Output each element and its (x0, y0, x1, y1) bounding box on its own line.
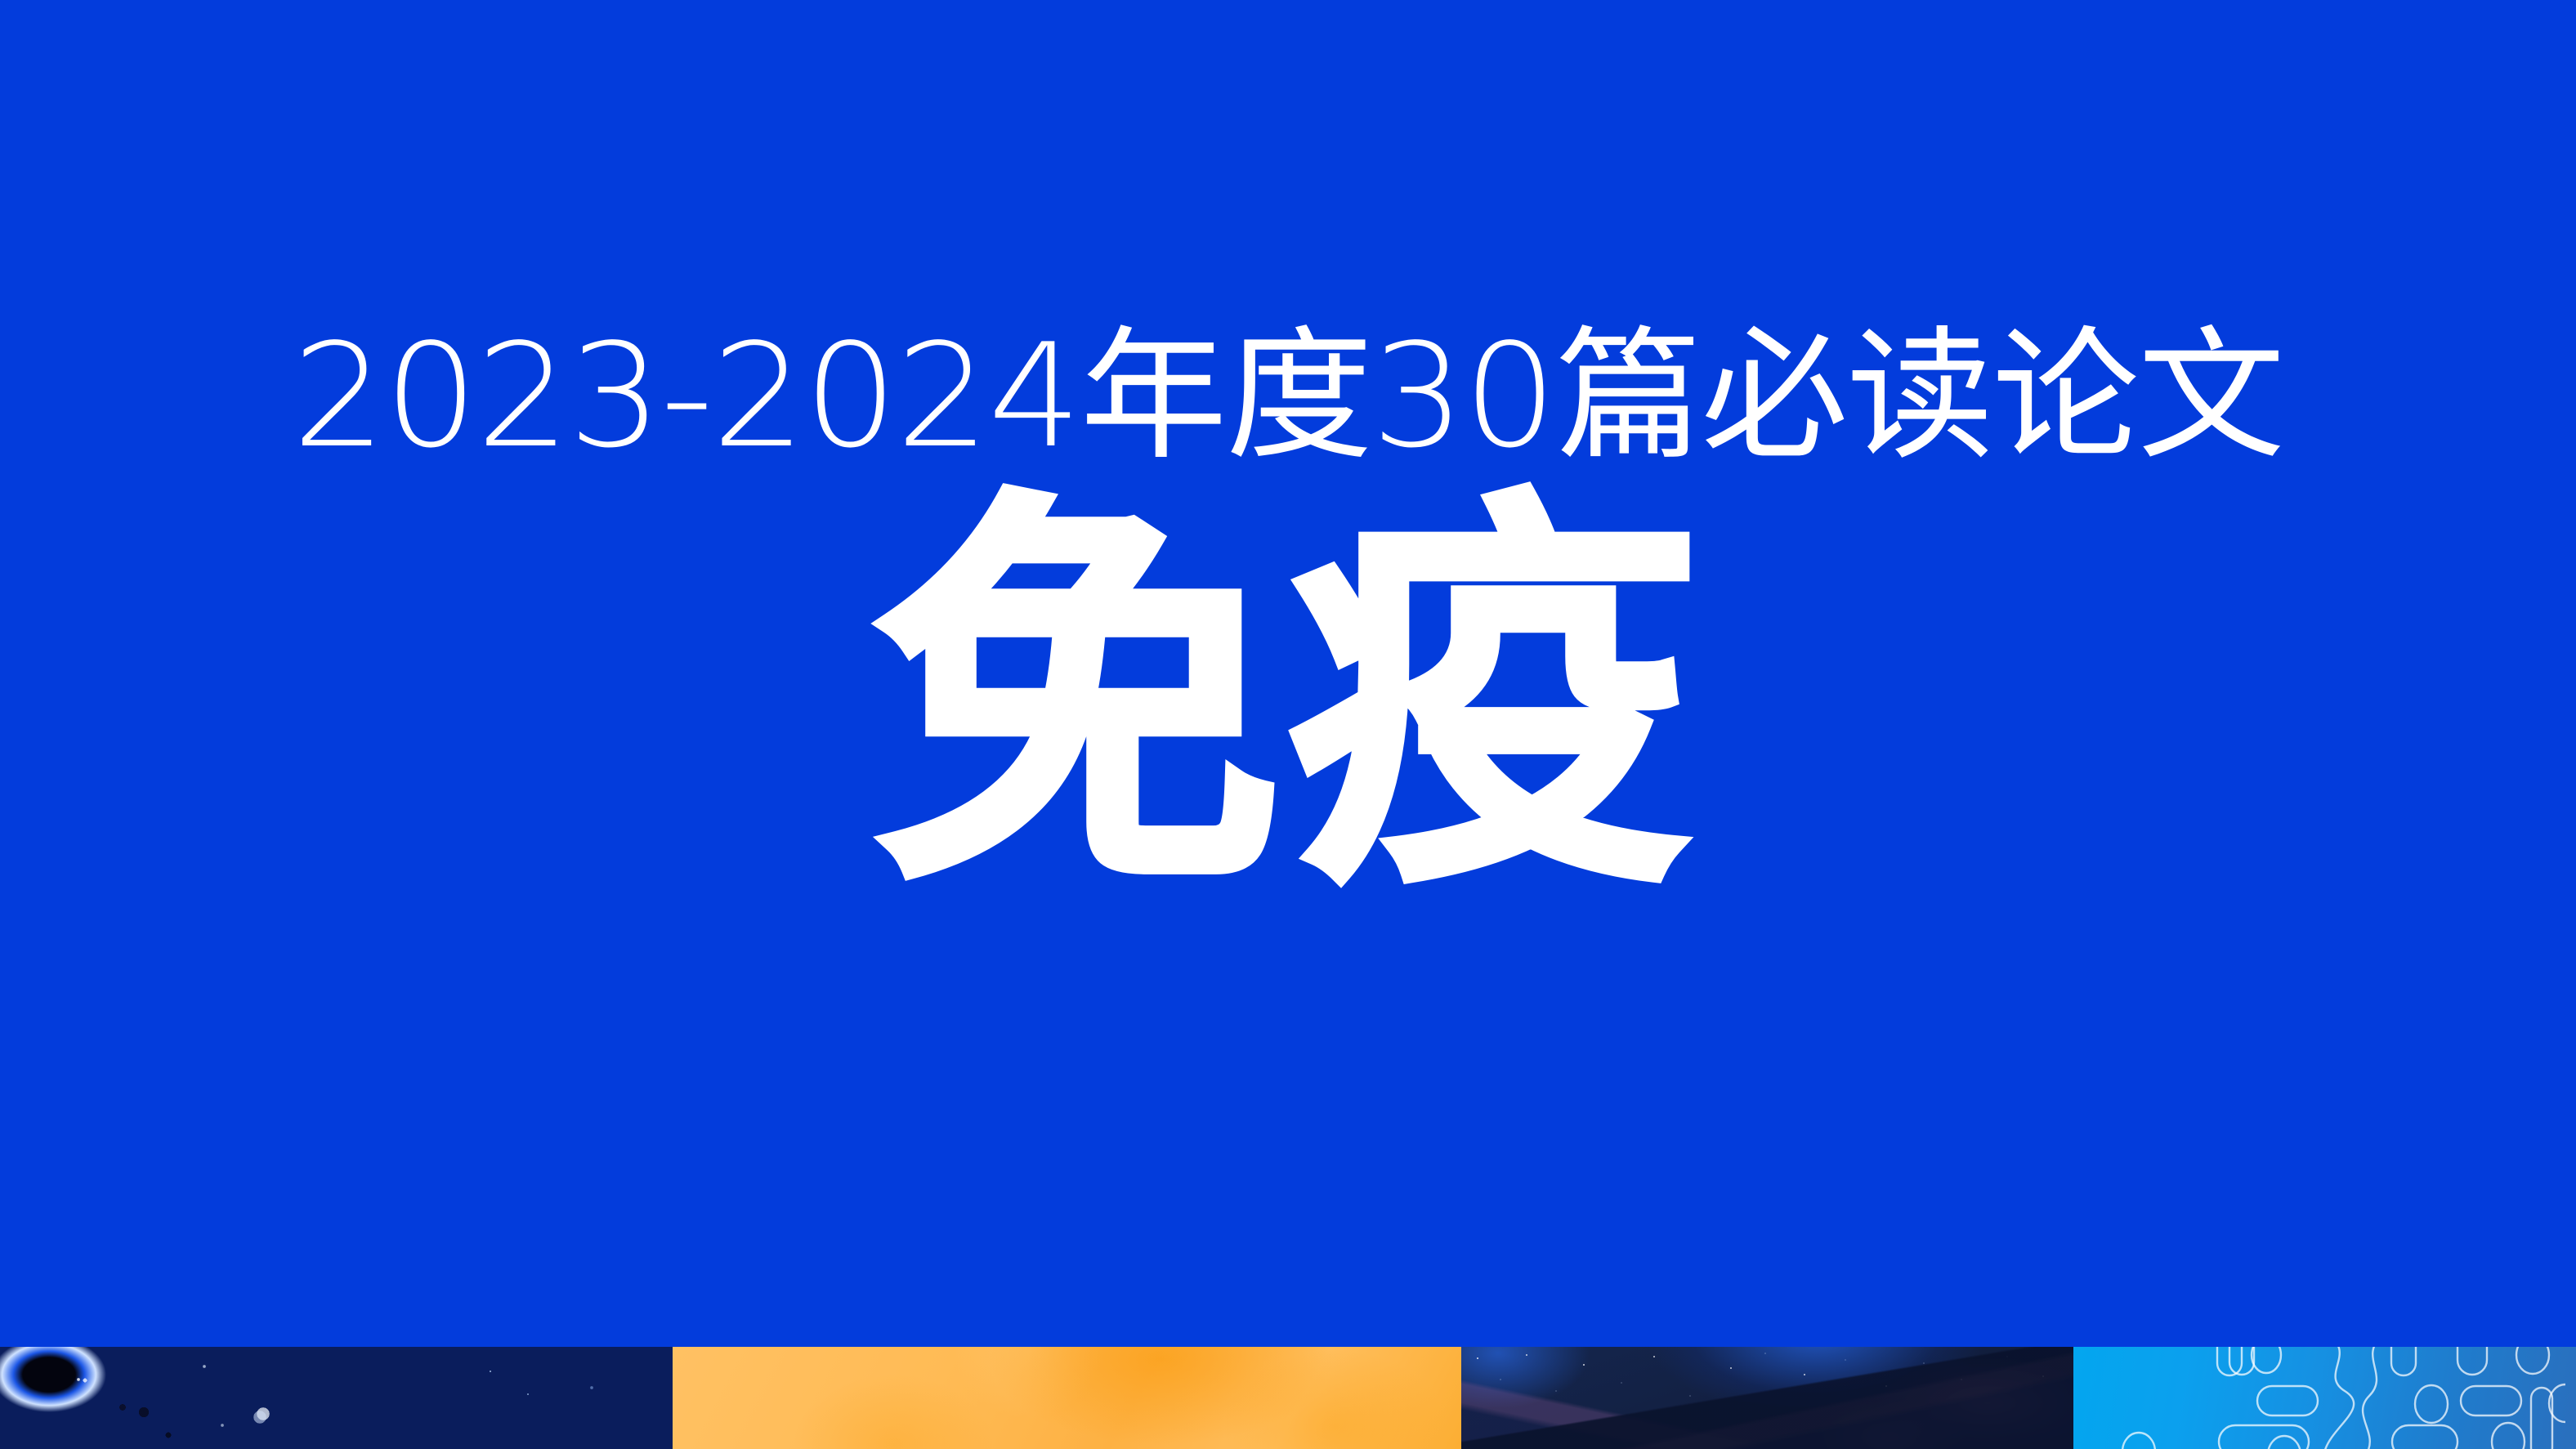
strip-panel-orange-gradient (673, 1347, 1461, 1449)
slide-headline: 免疫 (873, 498, 1703, 898)
strip-panel-starry-canyon (1461, 1347, 2073, 1449)
strip-panel-blue-fluid-art (0, 1347, 673, 1449)
strip-panel-tech-pattern (2073, 1347, 2576, 1449)
bottom-image-strip (0, 1347, 2576, 1449)
slide-subtitle: 2023-2024年度30篇必读论文 (293, 325, 2284, 468)
title-group: 2023-2024年度30篇必读论文 免疫 (0, 0, 2576, 1347)
slide-canvas: 2023-2024年度30篇必读论文 免疫 (0, 0, 2576, 1449)
tech-pattern-graphic (2073, 1347, 2576, 1449)
